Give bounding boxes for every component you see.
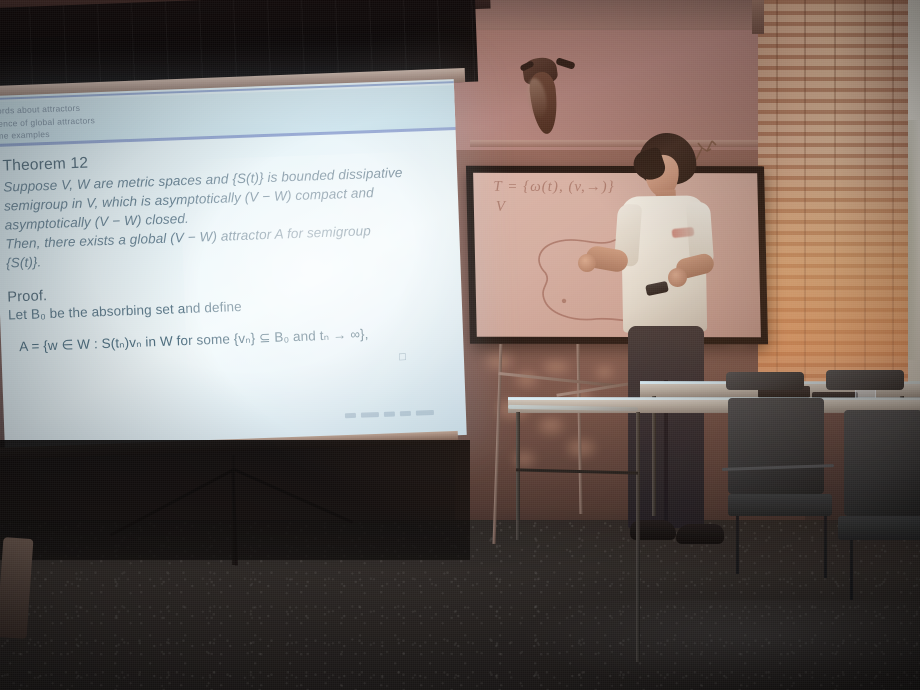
sunlight-dapple: [544, 360, 568, 374]
antler-trophy-icon: [694, 138, 720, 162]
chair-back: [844, 410, 920, 516]
chair-seat: [728, 494, 832, 516]
foreground-shadow: [0, 440, 470, 560]
presenter-hand: [578, 254, 596, 272]
projected-slide: words about attractors stence of global …: [0, 79, 467, 452]
floor-light-reflection: [520, 600, 920, 690]
slide-body: Theorem 12 Suppose V, W are metric space…: [2, 142, 440, 378]
presenter-hand: [668, 268, 687, 287]
chair-back: [826, 370, 904, 390]
slide-nav-icon[interactable]: [416, 410, 434, 416]
curtain-rail: [752, 0, 764, 34]
curtain-pleat: [776, 0, 778, 400]
front-table-edge: [508, 397, 920, 400]
curtain-pleat: [804, 0, 806, 400]
slide-nav-icon[interactable]: [400, 411, 411, 416]
chair-leg: [824, 516, 827, 578]
sunlight-dapple: [540, 418, 562, 433]
slide-nav-icon[interactable]: [361, 412, 379, 418]
chair-back: [726, 372, 804, 390]
chair-back: [728, 398, 824, 494]
projection-screen[interactable]: words about attractors stence of global …: [0, 79, 467, 452]
slide-navigation-bar[interactable]: [204, 408, 434, 425]
slide-nav-icon[interactable]: [345, 413, 356, 418]
window-curtain: [758, 0, 908, 400]
curtain-pleat: [834, 0, 836, 400]
wall-trim: [470, 140, 770, 147]
front-table-leg: [516, 412, 520, 540]
sunlight-dapple: [596, 366, 613, 378]
curtain-sunlight: [758, 150, 908, 400]
presenter-shoe: [676, 524, 724, 544]
chair-leg: [850, 540, 853, 600]
whiteboard-second-ink: V: [496, 199, 506, 216]
chair-seat: [838, 516, 920, 540]
front-table-leg: [636, 412, 640, 662]
lecture-room-photo: T = {ω(t), (v,→)} V: [0, 0, 920, 690]
back-table-leg: [652, 396, 656, 516]
chair-leg: [736, 516, 739, 574]
curtain-pleat: [892, 0, 894, 400]
whiteboard-formula: T = {ω(t), (v,→)}: [493, 179, 615, 196]
slide-nav-icon[interactable]: [384, 411, 395, 416]
curtain-pleat: [864, 0, 866, 400]
